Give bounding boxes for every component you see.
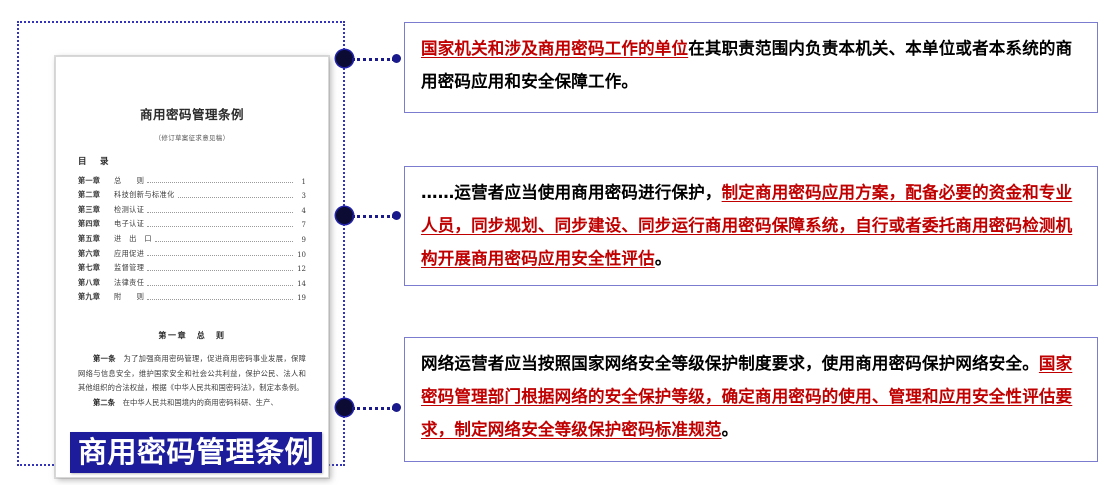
article-1-label: 第一条 bbox=[93, 354, 116, 363]
toc-list: 第一章 总 则 1 第二章 科技创新与标准化 3 第三章 检测认证 bbox=[78, 171, 306, 302]
toc-chapter: 第八章 bbox=[78, 278, 114, 288]
toc-row: 第六章 应用促进 10 bbox=[78, 244, 306, 259]
callout-box-1[interactable]: 国家机关和涉及商用密码工作的单位在其职责范围内负责本机关、本单位或者本系统的商用… bbox=[404, 22, 1098, 113]
toc-row: 第九章 附 则 19 bbox=[78, 288, 306, 303]
toc-leader bbox=[147, 285, 293, 286]
toc-chapter-name: 应用促进 bbox=[114, 249, 147, 259]
callout-2-tail: 。 bbox=[655, 249, 672, 268]
toc-page-number: 14 bbox=[293, 280, 306, 288]
callout-1-text: 国家机关和涉及商用密码工作的单位在其职责范围内负责本机关、本单位或者本系统的商用… bbox=[421, 32, 1081, 98]
toc-chapter: 第一章 bbox=[78, 176, 114, 186]
callout-3-lead: 网络运营者应当按照国家网络安全等级保护制度要求，使用商用密码保护网络安全。 bbox=[421, 354, 1039, 373]
toc-chapter-name: 法律责任 bbox=[114, 278, 147, 288]
toc-page-number: 7 bbox=[293, 221, 306, 229]
document-banner: 商用密码管理条例 bbox=[70, 432, 322, 473]
toc-chapter-name: 科技创新与标准化 bbox=[114, 190, 178, 200]
toc-row: 第三章 检测认证 4 bbox=[78, 200, 306, 215]
toc-heading: 目 录 bbox=[78, 155, 306, 167]
callout-3-tail: 。 bbox=[722, 420, 739, 439]
toc-leader bbox=[155, 241, 293, 242]
toc-chapter-name: 检测认证 bbox=[114, 205, 147, 215]
toc-leader bbox=[147, 212, 293, 213]
toc-row: 第七章 监督管理 12 bbox=[78, 259, 306, 274]
toc-row: 第一章 总 则 1 bbox=[78, 171, 306, 186]
connector-anchor-dot bbox=[336, 399, 353, 416]
toc-leader bbox=[147, 182, 293, 183]
article-2-label: 第二条 bbox=[93, 398, 115, 407]
toc-page-number: 3 bbox=[293, 192, 306, 200]
callout-box-3[interactable]: 网络运营者应当按照国家网络安全等级保护制度要求，使用商用密码保护网络安全。国家密… bbox=[404, 337, 1098, 462]
toc-chapter-name: 电子认证 bbox=[114, 219, 147, 229]
document-banner-label: 商用密码管理条例 bbox=[78, 438, 314, 467]
toc-chapter-name: 进 出 口 bbox=[114, 234, 155, 244]
connector-anchor-dot bbox=[336, 207, 353, 224]
toc-chapter: 第七章 bbox=[78, 263, 114, 273]
connector-dotted-line bbox=[352, 58, 395, 61]
document-page-content: 商用密码管理条例 （修订草案征求意见稿） 目 录 第一章 总 则 1 第二章 科… bbox=[56, 104, 328, 478]
connector-anchor-dot bbox=[336, 50, 353, 67]
toc-leader bbox=[147, 270, 293, 271]
toc-chapter-name: 总 则 bbox=[114, 176, 147, 186]
connector-dotted-line bbox=[352, 407, 395, 410]
document-title: 商用密码管理条例 bbox=[78, 104, 306, 123]
toc-chapter: 第三章 bbox=[78, 205, 114, 215]
callout-2-text: ……运营者应当使用商用密码进行保护，制定商用密码应用方案，配备必要的资金和专业人… bbox=[421, 176, 1081, 275]
connector-target-dot bbox=[392, 211, 401, 220]
toc-row: 第五章 进 出 口 9 bbox=[78, 229, 306, 244]
toc-chapter: 第四章 bbox=[78, 219, 114, 229]
document-article-2: 第二条 在中华人民共和国境内的商用密码科研、生产、 bbox=[78, 396, 306, 410]
toc-page-number: 12 bbox=[293, 265, 306, 273]
toc-page-number: 1 bbox=[293, 178, 306, 186]
connector-target-dot bbox=[392, 403, 401, 412]
toc-leader bbox=[147, 226, 293, 227]
callout-box-2[interactable]: ……运营者应当使用商用密码进行保护，制定商用密码应用方案，配备必要的资金和专业人… bbox=[404, 166, 1098, 286]
toc-row: 第八章 法律责任 14 bbox=[78, 273, 306, 288]
toc-page-number: 19 bbox=[293, 294, 306, 302]
slide-canvas: 商用密码管理条例 （修订草案征求意见稿） 目 录 第一章 总 则 1 第二章 科… bbox=[0, 0, 1119, 485]
document-page[interactable]: 商用密码管理条例 （修订草案征求意见稿） 目 录 第一章 总 则 1 第二章 科… bbox=[55, 56, 329, 478]
toc-chapter: 第二章 bbox=[78, 190, 114, 200]
callout-2-lead: ……运营者应当使用商用密码进行保护， bbox=[421, 183, 722, 202]
toc-chapter: 第九章 bbox=[78, 292, 114, 302]
connector-dotted-line bbox=[352, 215, 395, 218]
callout-1-highlight: 国家机关和涉及商用密码工作的单位 bbox=[421, 39, 688, 58]
toc-leader bbox=[178, 197, 293, 198]
connector-target-dot bbox=[392, 54, 401, 63]
document-subtitle: （修订草案征求意见稿） bbox=[78, 132, 306, 142]
toc-chapter: 第六章 bbox=[78, 249, 114, 259]
toc-chapter: 第五章 bbox=[78, 234, 114, 244]
toc-leader bbox=[147, 299, 293, 300]
toc-leader bbox=[147, 255, 293, 256]
document-article-1: 第一条 为了加强商用密码管理，促进商用密码事业发展，保障网络与信息安全，维护国家… bbox=[78, 352, 306, 395]
toc-chapter-name: 监督管理 bbox=[114, 263, 147, 273]
document-section-heading: 第一章 总 则 bbox=[78, 330, 306, 341]
toc-page-number: 4 bbox=[293, 207, 306, 215]
toc-page-number: 10 bbox=[293, 251, 306, 259]
toc-row: 第四章 电子认证 7 bbox=[78, 215, 306, 230]
toc-chapter-name: 附 则 bbox=[114, 292, 147, 302]
document-preview-frame: 商用密码管理条例 （修订草案征求意见稿） 目 录 第一章 总 则 1 第二章 科… bbox=[17, 21, 345, 466]
article-2-text: 在中华人民共和国境内的商用密码科研、生产、 bbox=[115, 398, 278, 407]
toc-row: 第二章 科技创新与标准化 3 bbox=[78, 186, 306, 201]
toc-page-number: 9 bbox=[293, 236, 306, 244]
callout-3-text: 网络运营者应当按照国家网络安全等级保护制度要求，使用商用密码保护网络安全。国家密… bbox=[421, 347, 1081, 446]
